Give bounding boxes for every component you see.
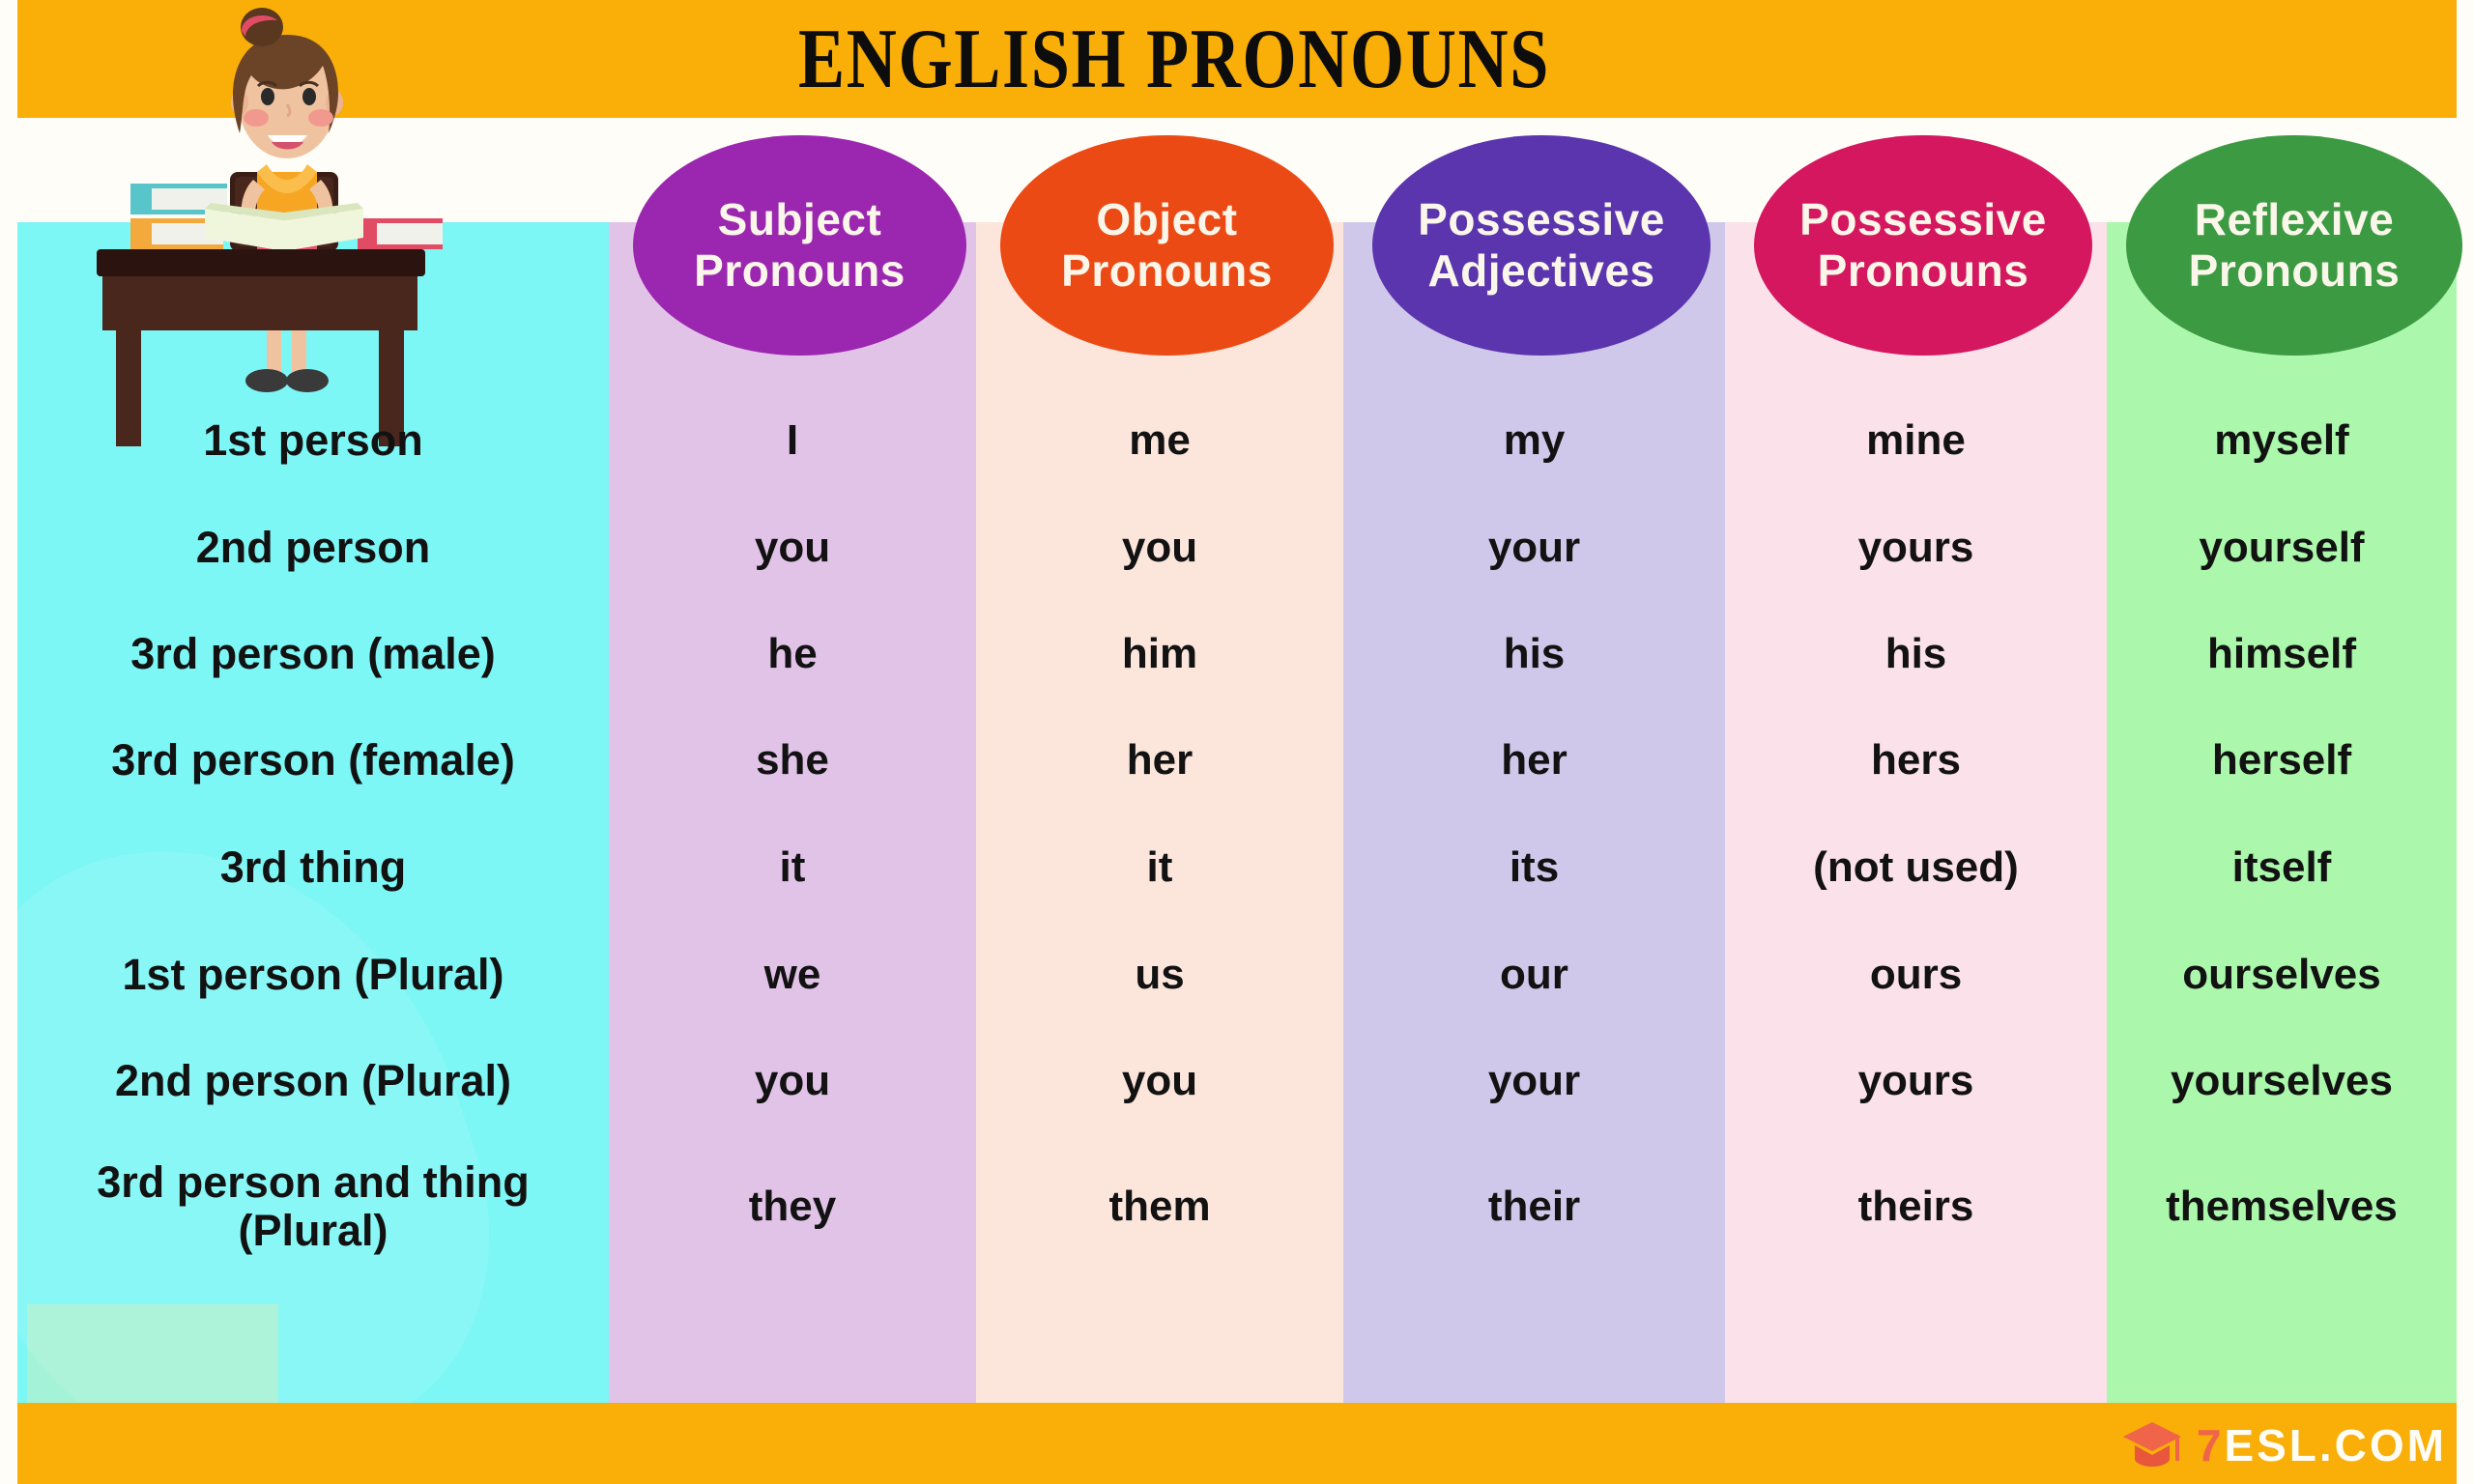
cell-posadj-5: our bbox=[1343, 922, 1725, 1028]
cell-posadj-4: its bbox=[1343, 813, 1725, 922]
cell-object-6: you bbox=[976, 1028, 1343, 1134]
book-right bbox=[358, 218, 443, 249]
cell-pospro-6: yours bbox=[1725, 1028, 2107, 1134]
cell-pospro-2: his bbox=[1725, 601, 2107, 707]
cell-posadj-2: his bbox=[1343, 601, 1725, 707]
cell-posadj-6: your bbox=[1343, 1028, 1725, 1134]
cell-posadj-3: her bbox=[1343, 707, 1725, 813]
header-object-pronouns: Object Pronouns bbox=[1000, 135, 1334, 356]
header-posadj-line1: Possessive bbox=[1418, 194, 1665, 244]
cell-posadj-0: my bbox=[1343, 386, 1725, 495]
cell-pospro-1: yours bbox=[1725, 495, 2107, 601]
table-row: 1st person (Plural)weusouroursourselves bbox=[17, 922, 2457, 1028]
table-row: 2nd person (Plural)youyouyouryoursyourse… bbox=[17, 1028, 2457, 1134]
bottom-band bbox=[17, 1403, 2457, 1484]
logo-seven: 7 bbox=[2197, 1420, 2225, 1470]
cell-subject-4: it bbox=[609, 813, 976, 922]
cell-pospro-0: mine bbox=[1725, 386, 2107, 495]
cell-object-7: them bbox=[976, 1134, 1343, 1279]
cell-subject-2: he bbox=[609, 601, 976, 707]
header-reflex-line1: Reflexive bbox=[2195, 194, 2395, 244]
cell-reflex-6: yourselves bbox=[2107, 1028, 2457, 1134]
cell-pospro-7: theirs bbox=[1725, 1134, 2107, 1279]
cell-posadj-1: your bbox=[1343, 495, 1725, 601]
pronouns-table: 1st personImemyminemyself2nd personyouyo… bbox=[17, 386, 2457, 1279]
header-possessive-pronouns: Possessive Pronouns bbox=[1754, 135, 2092, 356]
cell-subject-1: you bbox=[609, 495, 976, 601]
cell-subject-7: they bbox=[609, 1134, 976, 1279]
header-object-line1: Object bbox=[1096, 194, 1237, 244]
girl-figure bbox=[231, 8, 343, 392]
header-reflexive-pronouns: Reflexive Pronouns bbox=[2126, 135, 2462, 356]
logo-rest: ESL.COM bbox=[2224, 1420, 2447, 1470]
cell-pospro-4: (not used) bbox=[1725, 813, 2107, 922]
cell-reflex-4: itself bbox=[2107, 813, 2457, 922]
table-row: 3rd person (male)hehimhishishimself bbox=[17, 601, 2457, 707]
site-logo[interactable]: 7ESL.COM bbox=[2121, 1418, 2447, 1472]
cell-subject-5: we bbox=[609, 922, 976, 1028]
header-pospro-line2: Pronouns bbox=[1818, 245, 2029, 296]
row-label-0: 1st person bbox=[17, 386, 609, 495]
cell-reflex-7: themselves bbox=[2107, 1134, 2457, 1279]
cell-reflex-2: himself bbox=[2107, 601, 2457, 707]
cell-object-5: us bbox=[976, 922, 1343, 1028]
row-label-7: 3rd person and thing (Plural) bbox=[17, 1134, 609, 1279]
header-subject-pronouns: Subject Pronouns bbox=[633, 135, 966, 356]
header-pospro-line1: Possessive bbox=[1799, 194, 2047, 244]
row-label-4: 3rd thing bbox=[17, 813, 609, 922]
table-row: 3rd person and thing (Plural)theythemthe… bbox=[17, 1134, 2457, 1279]
cell-pospro-3: hers bbox=[1725, 707, 2107, 813]
row-label-6: 2nd person (Plural) bbox=[17, 1028, 609, 1134]
page-title: ENGLISH PRONOUNS bbox=[750, 2, 1597, 116]
table-row: 1st personImemyminemyself bbox=[17, 386, 2457, 495]
logo-text: 7ESL.COM bbox=[2197, 1423, 2447, 1468]
cell-object-0: me bbox=[976, 386, 1343, 495]
decorative-rect bbox=[27, 1304, 278, 1411]
pronouns-poster: ENGLISH PRONOUNS bbox=[0, 0, 2474, 1484]
table-row: 2nd personyouyouyouryoursyourself bbox=[17, 495, 2457, 601]
row-label-1: 2nd person bbox=[17, 495, 609, 601]
cell-object-1: you bbox=[976, 495, 1343, 601]
cell-subject-6: you bbox=[609, 1028, 976, 1134]
header-possessive-adjectives: Possessive Adjectives bbox=[1372, 135, 1711, 356]
header-subject-line2: Pronouns bbox=[694, 245, 906, 296]
cell-reflex-0: myself bbox=[2107, 386, 2457, 495]
header-reflex-line2: Pronouns bbox=[2189, 245, 2401, 296]
cell-object-4: it bbox=[976, 813, 1343, 922]
cell-object-2: him bbox=[976, 601, 1343, 707]
row-label-5: 1st person (Plural) bbox=[17, 922, 609, 1028]
row-label-2: 3rd person (male) bbox=[17, 601, 609, 707]
cell-subject-0: I bbox=[609, 386, 976, 495]
table-row: 3rd person (female)sheherherhersherself bbox=[17, 707, 2457, 813]
cell-subject-3: she bbox=[609, 707, 976, 813]
header-object-line2: Pronouns bbox=[1061, 245, 1273, 296]
cell-object-3: her bbox=[976, 707, 1343, 813]
cell-reflex-3: herself bbox=[2107, 707, 2457, 813]
cell-pospro-5: ours bbox=[1725, 922, 2107, 1028]
cell-reflex-1: yourself bbox=[2107, 495, 2457, 601]
table-row: 3rd thingititits(not used)itself bbox=[17, 813, 2457, 922]
header-subject-line1: Subject bbox=[718, 194, 882, 244]
graduation-cap-icon bbox=[2121, 1420, 2183, 1470]
header-posadj-line2: Adjectives bbox=[1427, 245, 1654, 296]
cell-posadj-7: their bbox=[1343, 1134, 1725, 1279]
cell-reflex-5: ourselves bbox=[2107, 922, 2457, 1028]
row-label-3: 3rd person (female) bbox=[17, 707, 609, 813]
